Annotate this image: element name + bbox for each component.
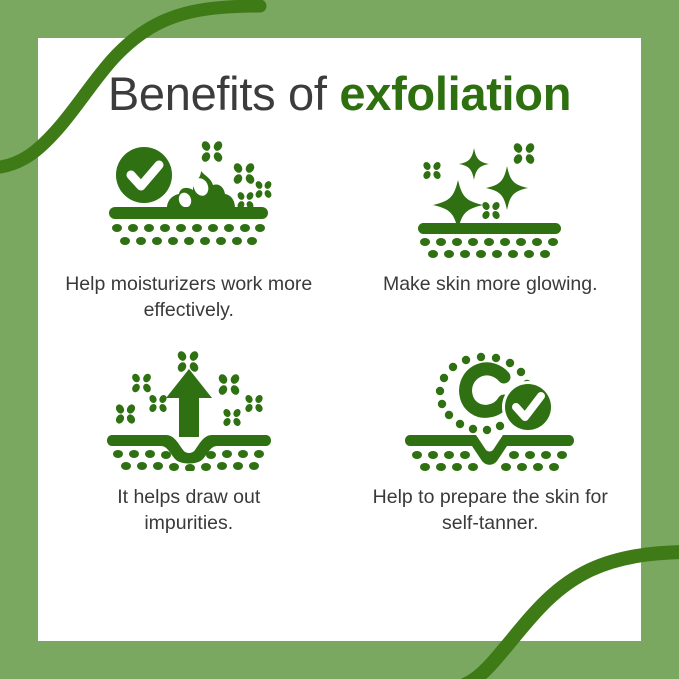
page-title: Benefits of exfoliation [38, 68, 641, 120]
arrow-up-from-pore-icon [94, 351, 284, 471]
title-space [327, 67, 340, 120]
benefits-grid: Help moisturizers work more effectively. [38, 138, 641, 537]
benefit-caption: Help to prepare the skin for self-tanner… [358, 485, 623, 536]
title-plain-text: Benefits of [108, 67, 327, 120]
check-circle-cream-on-skin-icon [94, 138, 284, 258]
benefit-caption: Help moisturizers work more effectively. [64, 272, 314, 323]
benefit-caption: It helps draw out impurities. [74, 485, 304, 536]
title-accent-text: exfoliation [339, 67, 571, 120]
poster: Benefits of exfoliation [0, 0, 679, 679]
sparkles-over-skin-icon [395, 138, 585, 258]
vitamin-c-droplet-check-icon [395, 351, 585, 471]
benefit-caption: Make skin more glowing. [383, 272, 598, 298]
benefit-item-impurities: It helps draw out impurities. [38, 351, 340, 536]
content-card: Benefits of exfoliation [38, 38, 641, 641]
benefit-item-self-tanner: Help to prepare the skin for self-tanner… [340, 351, 642, 536]
benefit-item-glowing: Make skin more glowing. [340, 138, 642, 323]
benefit-item-moisturizer: Help moisturizers work more effectively. [38, 138, 340, 323]
